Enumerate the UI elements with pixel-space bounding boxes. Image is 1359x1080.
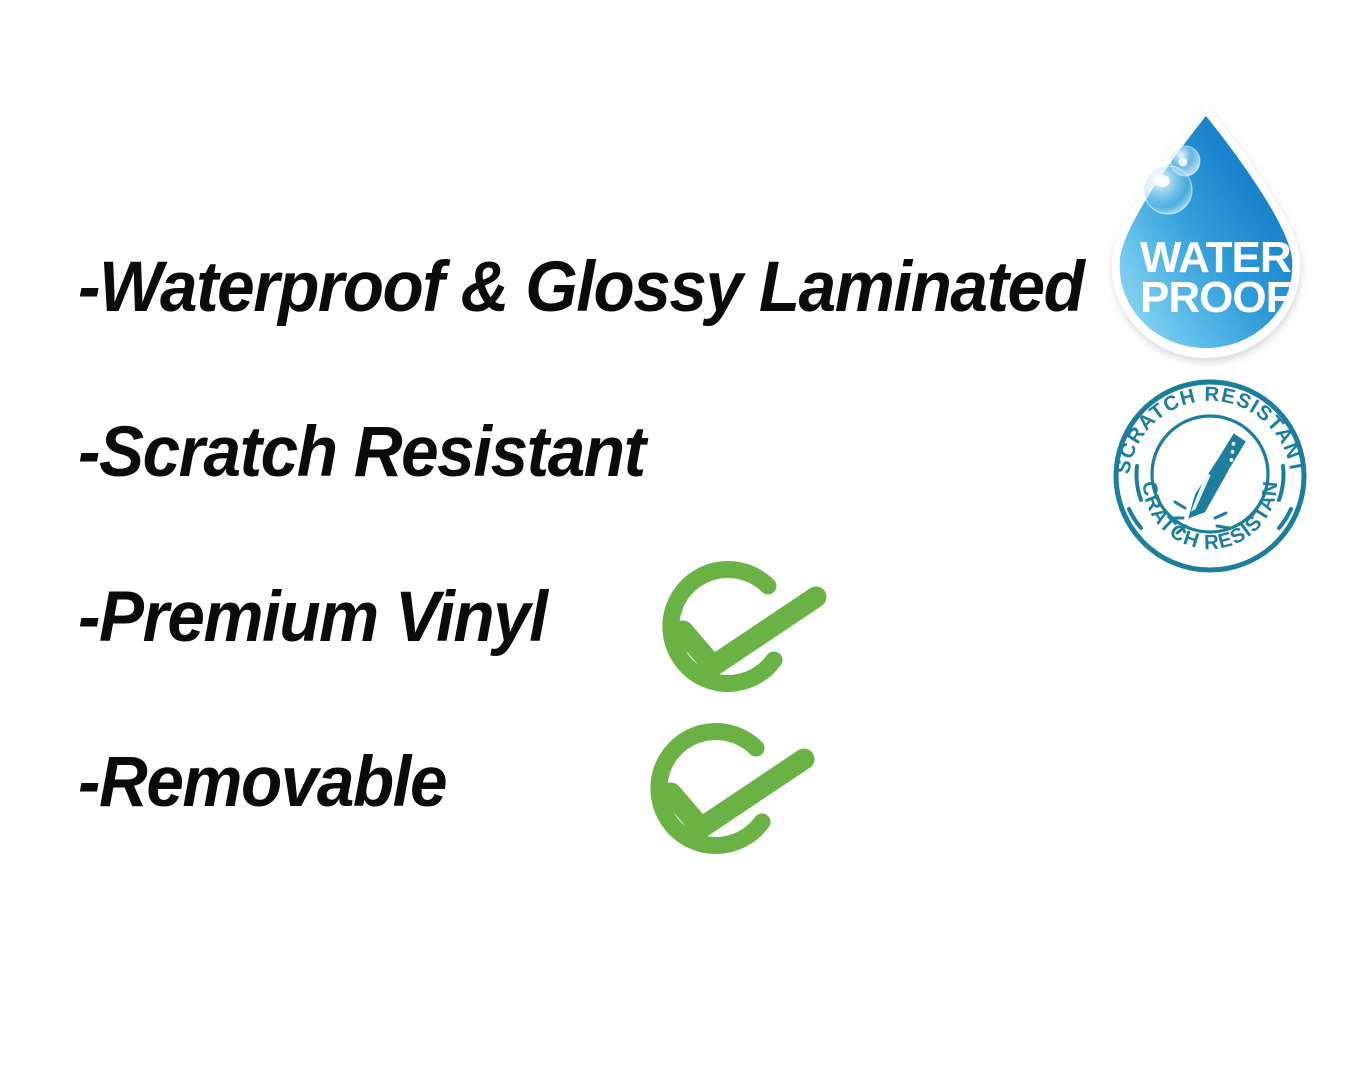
feature-item-premium-vinyl: -Premium Vinyl	[78, 582, 1038, 747]
check-stroke-1	[683, 597, 816, 666]
circle-check-icon	[628, 718, 828, 878]
circle-check-icon	[640, 556, 840, 716]
waterproof-badge: WATER PROOF	[1100, 100, 1312, 366]
knife-seal-icon: SCRATCH RESISTANT SCRATCH RESISTANT	[1107, 378, 1313, 574]
bubble-small-highlight	[1179, 158, 1188, 167]
water-drop-icon: WATER PROOF	[1100, 100, 1312, 366]
knife-blade	[1187, 455, 1231, 525]
waterproof-line2: PROOF	[1140, 273, 1292, 322]
seal-text-top: SCRATCH RESISTANT	[1111, 383, 1308, 476]
feature-graphic-canvas: -Waterproof & Glossy Laminated -Scratch …	[0, 0, 1359, 1080]
knife-icon	[1187, 428, 1247, 528]
feature-item-waterproof: -Waterproof & Glossy Laminated	[78, 252, 1038, 417]
scratch-resistant-badge: SCRATCH RESISTANT SCRATCH RESISTANT	[1107, 378, 1313, 574]
bubble-large-highlight	[1154, 175, 1170, 187]
check-stroke-2	[671, 759, 804, 828]
feature-list: -Waterproof & Glossy Laminated -Scratch …	[78, 252, 1088, 912]
feature-item-removable: -Removable	[78, 747, 1038, 912]
check-icon-removable	[628, 718, 828, 878]
check-icon-premium-vinyl	[640, 556, 840, 716]
feature-item-scratch-resistant: -Scratch Resistant	[78, 417, 1038, 582]
bubble-large-icon	[1144, 166, 1192, 214]
